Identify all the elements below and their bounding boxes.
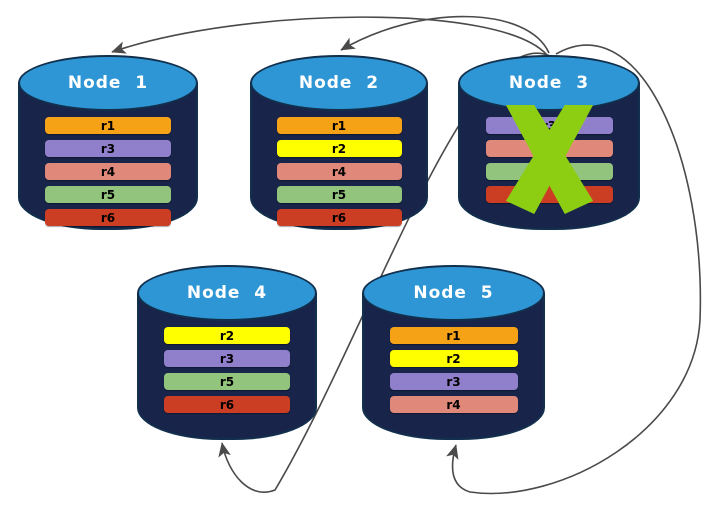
replica-row[interactable]: r3 [390,373,518,390]
replica-row[interactable]: r5 [164,373,290,390]
replica-row[interactable] [486,140,613,157]
replica-row[interactable]: r4 [277,163,402,180]
node-4[interactable]: Node 4r2r3r5r6 [137,265,317,440]
replica-row[interactable]: r6 [45,209,171,226]
node-3[interactable]: Node 3r3 [458,55,640,230]
replica-row[interactable] [486,186,613,203]
node-label: Node 4 [137,265,317,321]
replica-row[interactable] [486,163,613,180]
diagram-canvas: Node 1r1r3r4r5r6Node 2r1r2r4r5r6Node 3r3… [0,0,708,508]
replica-list: r1r3r4r5r6 [18,117,198,232]
replica-row[interactable]: r2 [164,327,290,344]
node-1[interactable]: Node 1r1r3r4r5r6 [18,55,198,230]
node-label: Node 2 [250,55,428,111]
replica-list: r1r2r4r5r6 [250,117,428,232]
replica-row[interactable]: r2 [277,140,402,157]
replica-list: r3 [458,117,640,209]
replica-row[interactable]: r5 [277,186,402,203]
edge-node3-to-node2 [341,17,549,53]
replica-row[interactable]: r6 [277,209,402,226]
replica-row[interactable]: r2 [390,350,518,367]
edge-node3-to-node1 [112,17,547,55]
replica-row[interactable]: r1 [390,327,518,344]
node-label: Node 5 [362,265,545,321]
node-5[interactable]: Node 5r1r2r3r4 [362,265,545,440]
replica-list: r2r3r5r6 [137,327,317,419]
replica-row[interactable]: r3 [45,140,171,157]
node-2[interactable]: Node 2r1r2r4r5r6 [250,55,428,230]
replica-row[interactable]: r4 [45,163,171,180]
replica-row[interactable]: r4 [390,396,518,413]
node-label: Node 3 [458,55,640,111]
replica-list: r1r2r3r4 [362,327,545,419]
replica-row[interactable]: r1 [277,117,402,134]
replica-row[interactable]: r5 [45,186,171,203]
node-label: Node 1 [18,55,198,111]
replica-row[interactable]: r3 [164,350,290,367]
replica-row[interactable]: r3 [486,117,613,134]
replica-row[interactable]: r1 [45,117,171,134]
replica-row[interactable]: r6 [164,396,290,413]
